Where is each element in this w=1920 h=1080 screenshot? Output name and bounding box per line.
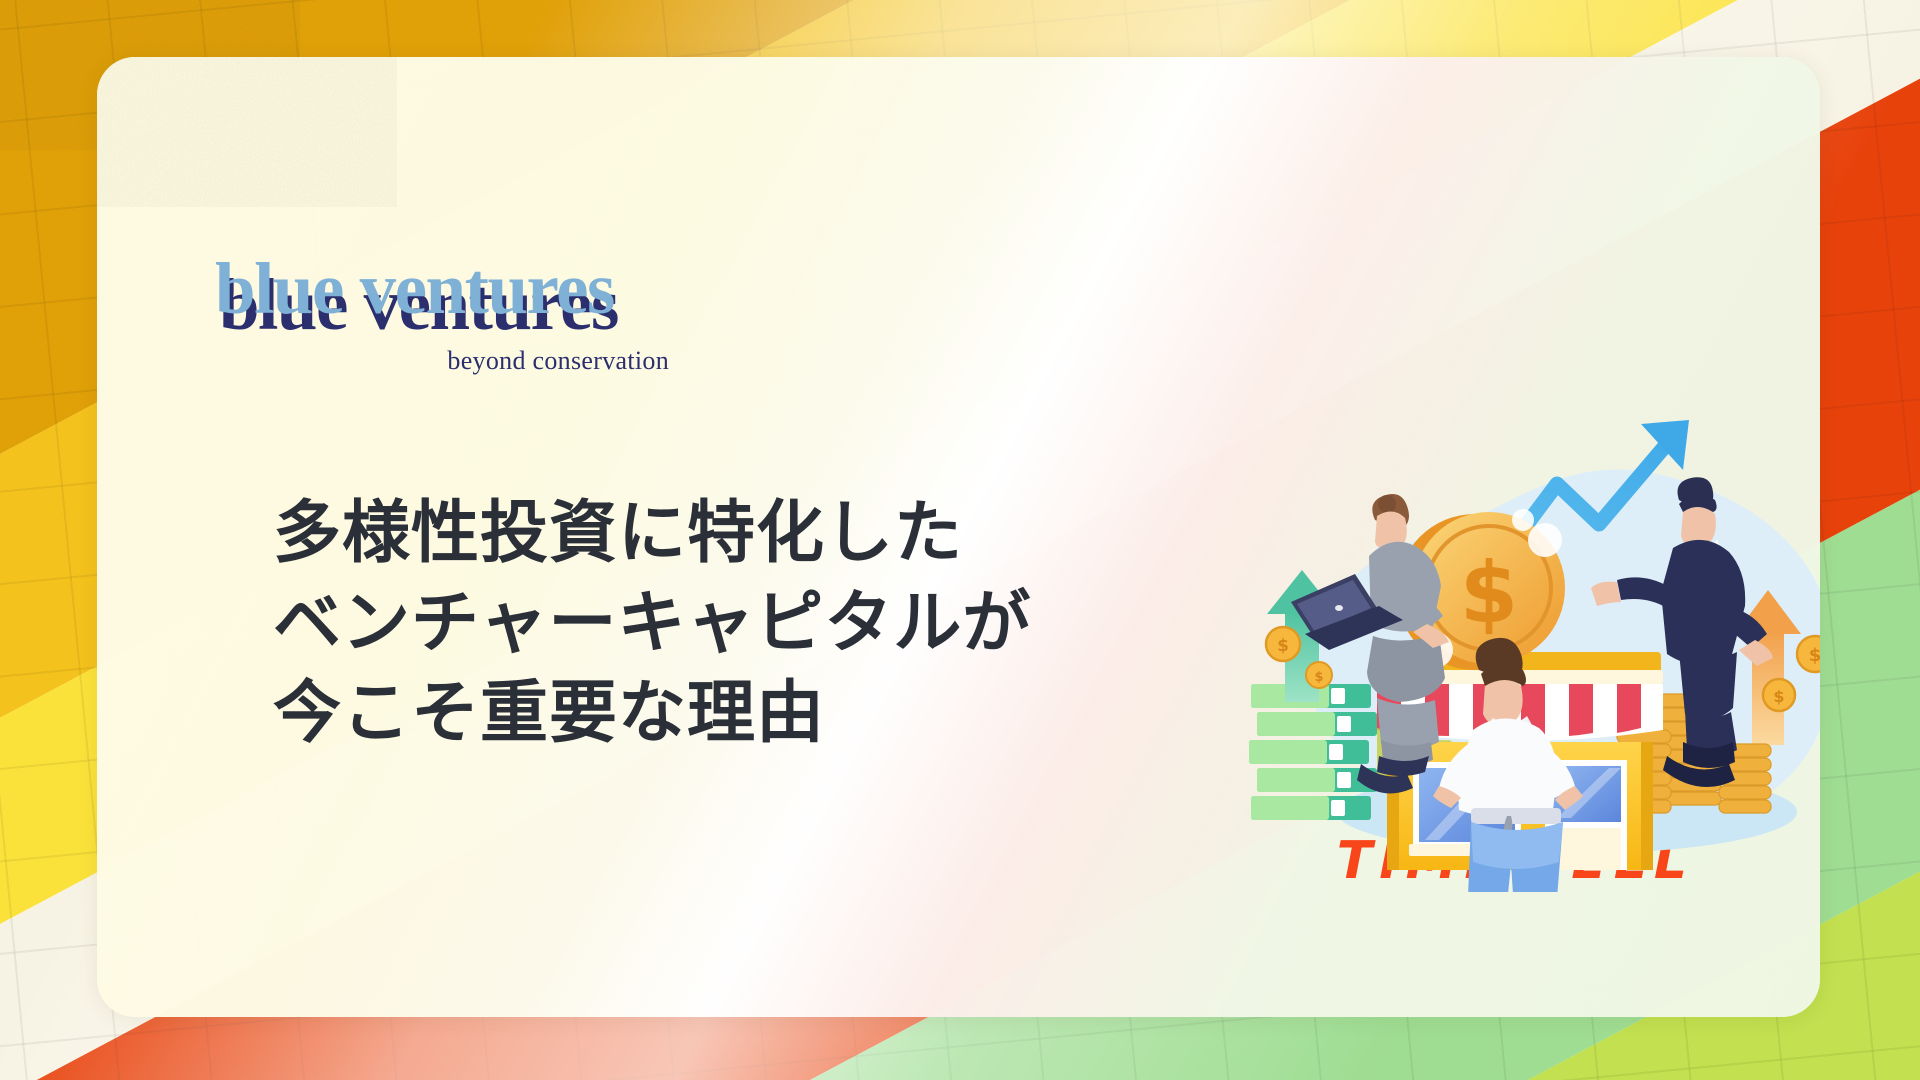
blue-ventures-wordmark: blue ventures blue ventures bbox=[215, 252, 675, 344]
headline-line-1: 多様性投資に特化した bbox=[273, 489, 1253, 579]
blue-ventures-tagline: beyond conservation bbox=[215, 346, 675, 376]
svg-text:$: $ bbox=[1460, 544, 1518, 642]
svg-text:$: $ bbox=[1314, 670, 1323, 685]
content-card: blue ventures blue ventures beyond conse… bbox=[97, 57, 1820, 1017]
headline-line-2: ベンチャーキャピタルが bbox=[273, 579, 1253, 669]
svg-text:$: $ bbox=[1809, 645, 1820, 666]
page-title: 多様性投資に特化した ベンチャーキャピタルが 今こそ重要な理由 bbox=[273, 489, 1253, 758]
article-card-canvas: blue ventures blue ventures beyond conse… bbox=[0, 0, 1920, 1080]
svg-text:$: $ bbox=[1773, 687, 1784, 706]
small-business-investment-growth-illustration: $ $ $ $ bbox=[1227, 412, 1820, 892]
money-stack-green bbox=[1249, 684, 1377, 820]
svg-text:$: $ bbox=[1277, 636, 1289, 656]
wordmark-top-layer: blue ventures bbox=[215, 252, 614, 325]
headline-line-3: 今こそ重要な理由 bbox=[273, 669, 1253, 759]
blue-ventures-logo: blue ventures blue ventures beyond conse… bbox=[215, 252, 675, 376]
card-content: blue ventures blue ventures beyond conse… bbox=[97, 57, 1820, 1017]
